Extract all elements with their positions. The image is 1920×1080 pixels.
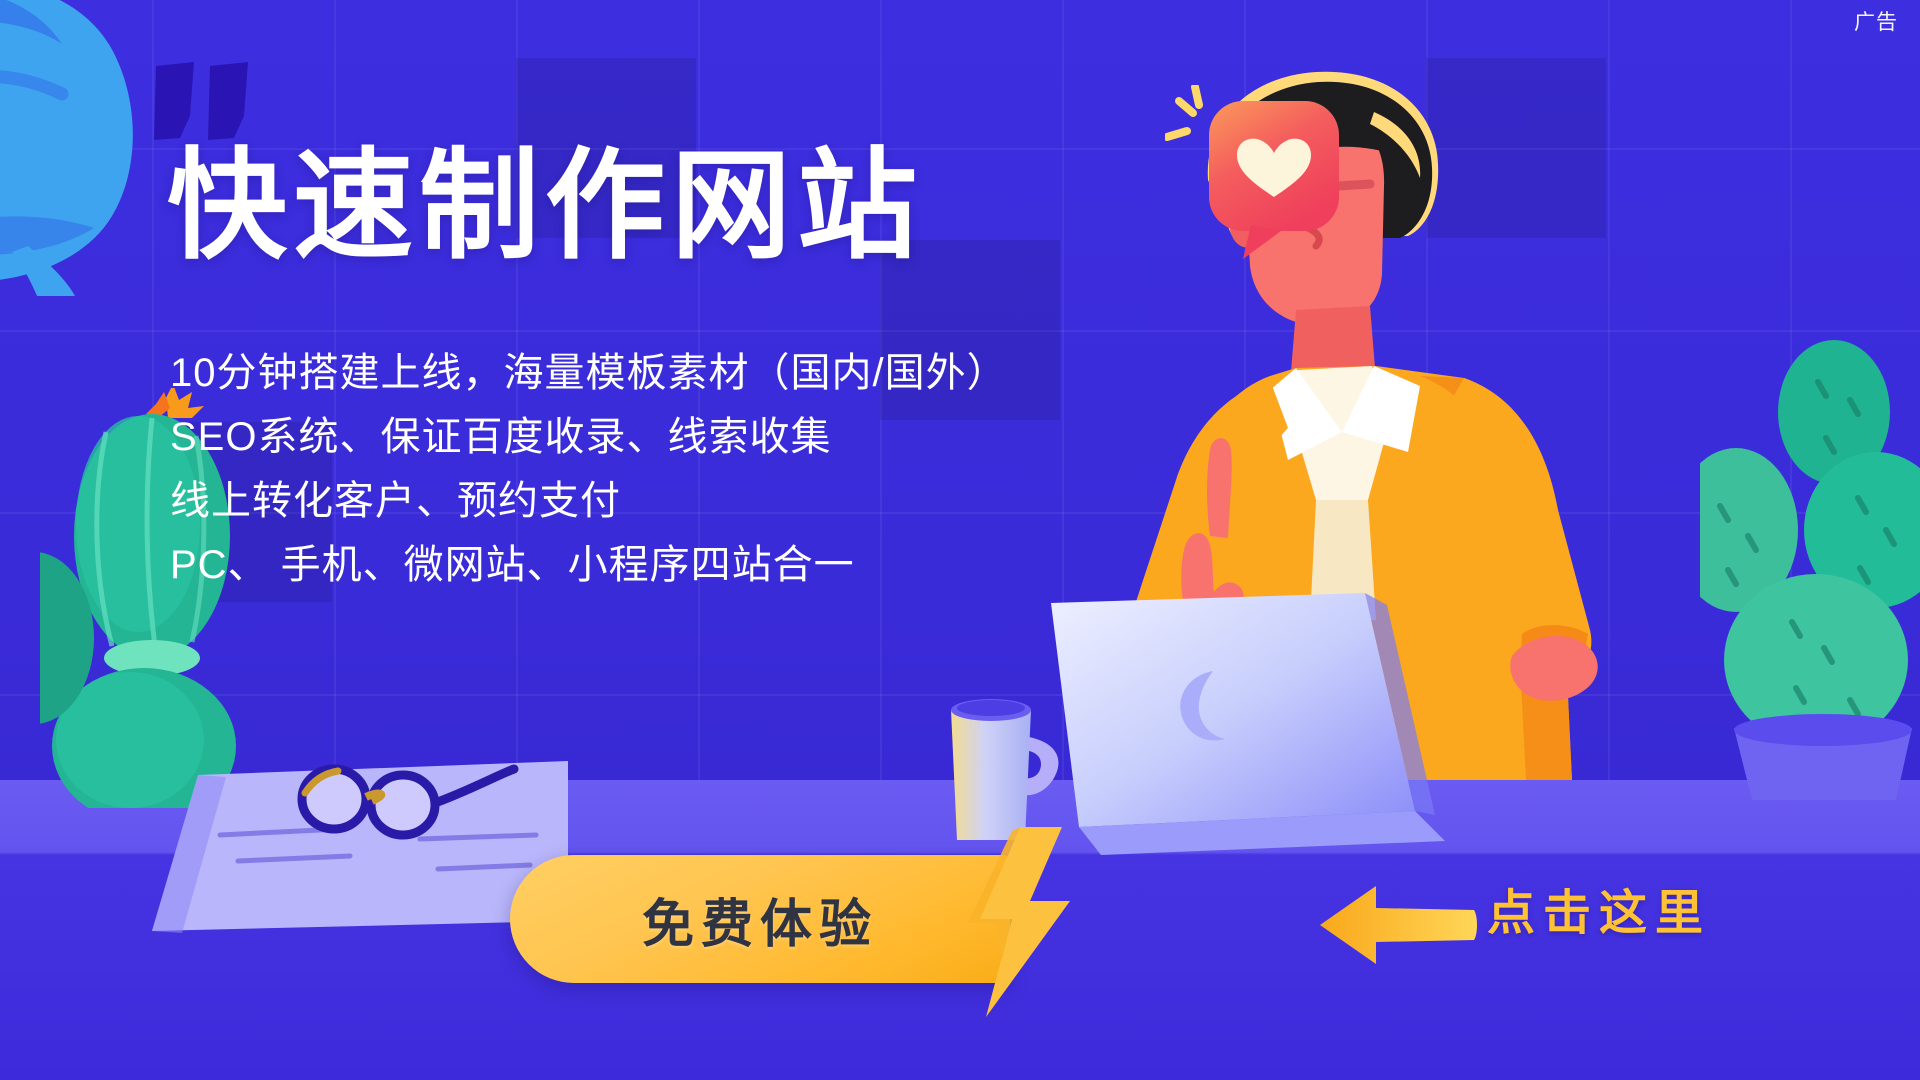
list-item: SEO系统、保证百度收录、线索收集 [170,405,1008,469]
sparkle-lines-icon [1167,87,1199,137]
cta-group[interactable]: 免费体验 [510,855,1010,983]
laptop-icon [1035,565,1455,855]
arrow-left-icon [1318,880,1478,975]
lightning-bolt-icon [966,827,1086,1022]
list-item: PC、 手机、微网站、小程序四站合一 [170,533,1008,597]
list-item: 线上转化客户、预约支付 [170,469,1008,533]
page-title: 快速制作网站 [167,143,923,269]
list-item: 10分钟搭建上线，海量模板素材（国内/国外） [170,341,1008,405]
heart-like-notification-icon [1165,85,1345,275]
advertisement-marker: 广告 [1854,6,1898,36]
advertisement-banner[interactable]: 广告 [0,0,1920,1080]
document-paper-icon [138,735,568,965]
free-trial-button[interactable]: 免费体验 [510,855,1010,983]
click-here-hint: 点击这里 [1487,873,1711,943]
free-trial-button-label: 免费体验 [642,882,878,957]
feature-list: 10分钟搭建上线，海量模板素材（国内/国外） SEO系统、保证百度收录、线索收集… [170,341,1008,597]
